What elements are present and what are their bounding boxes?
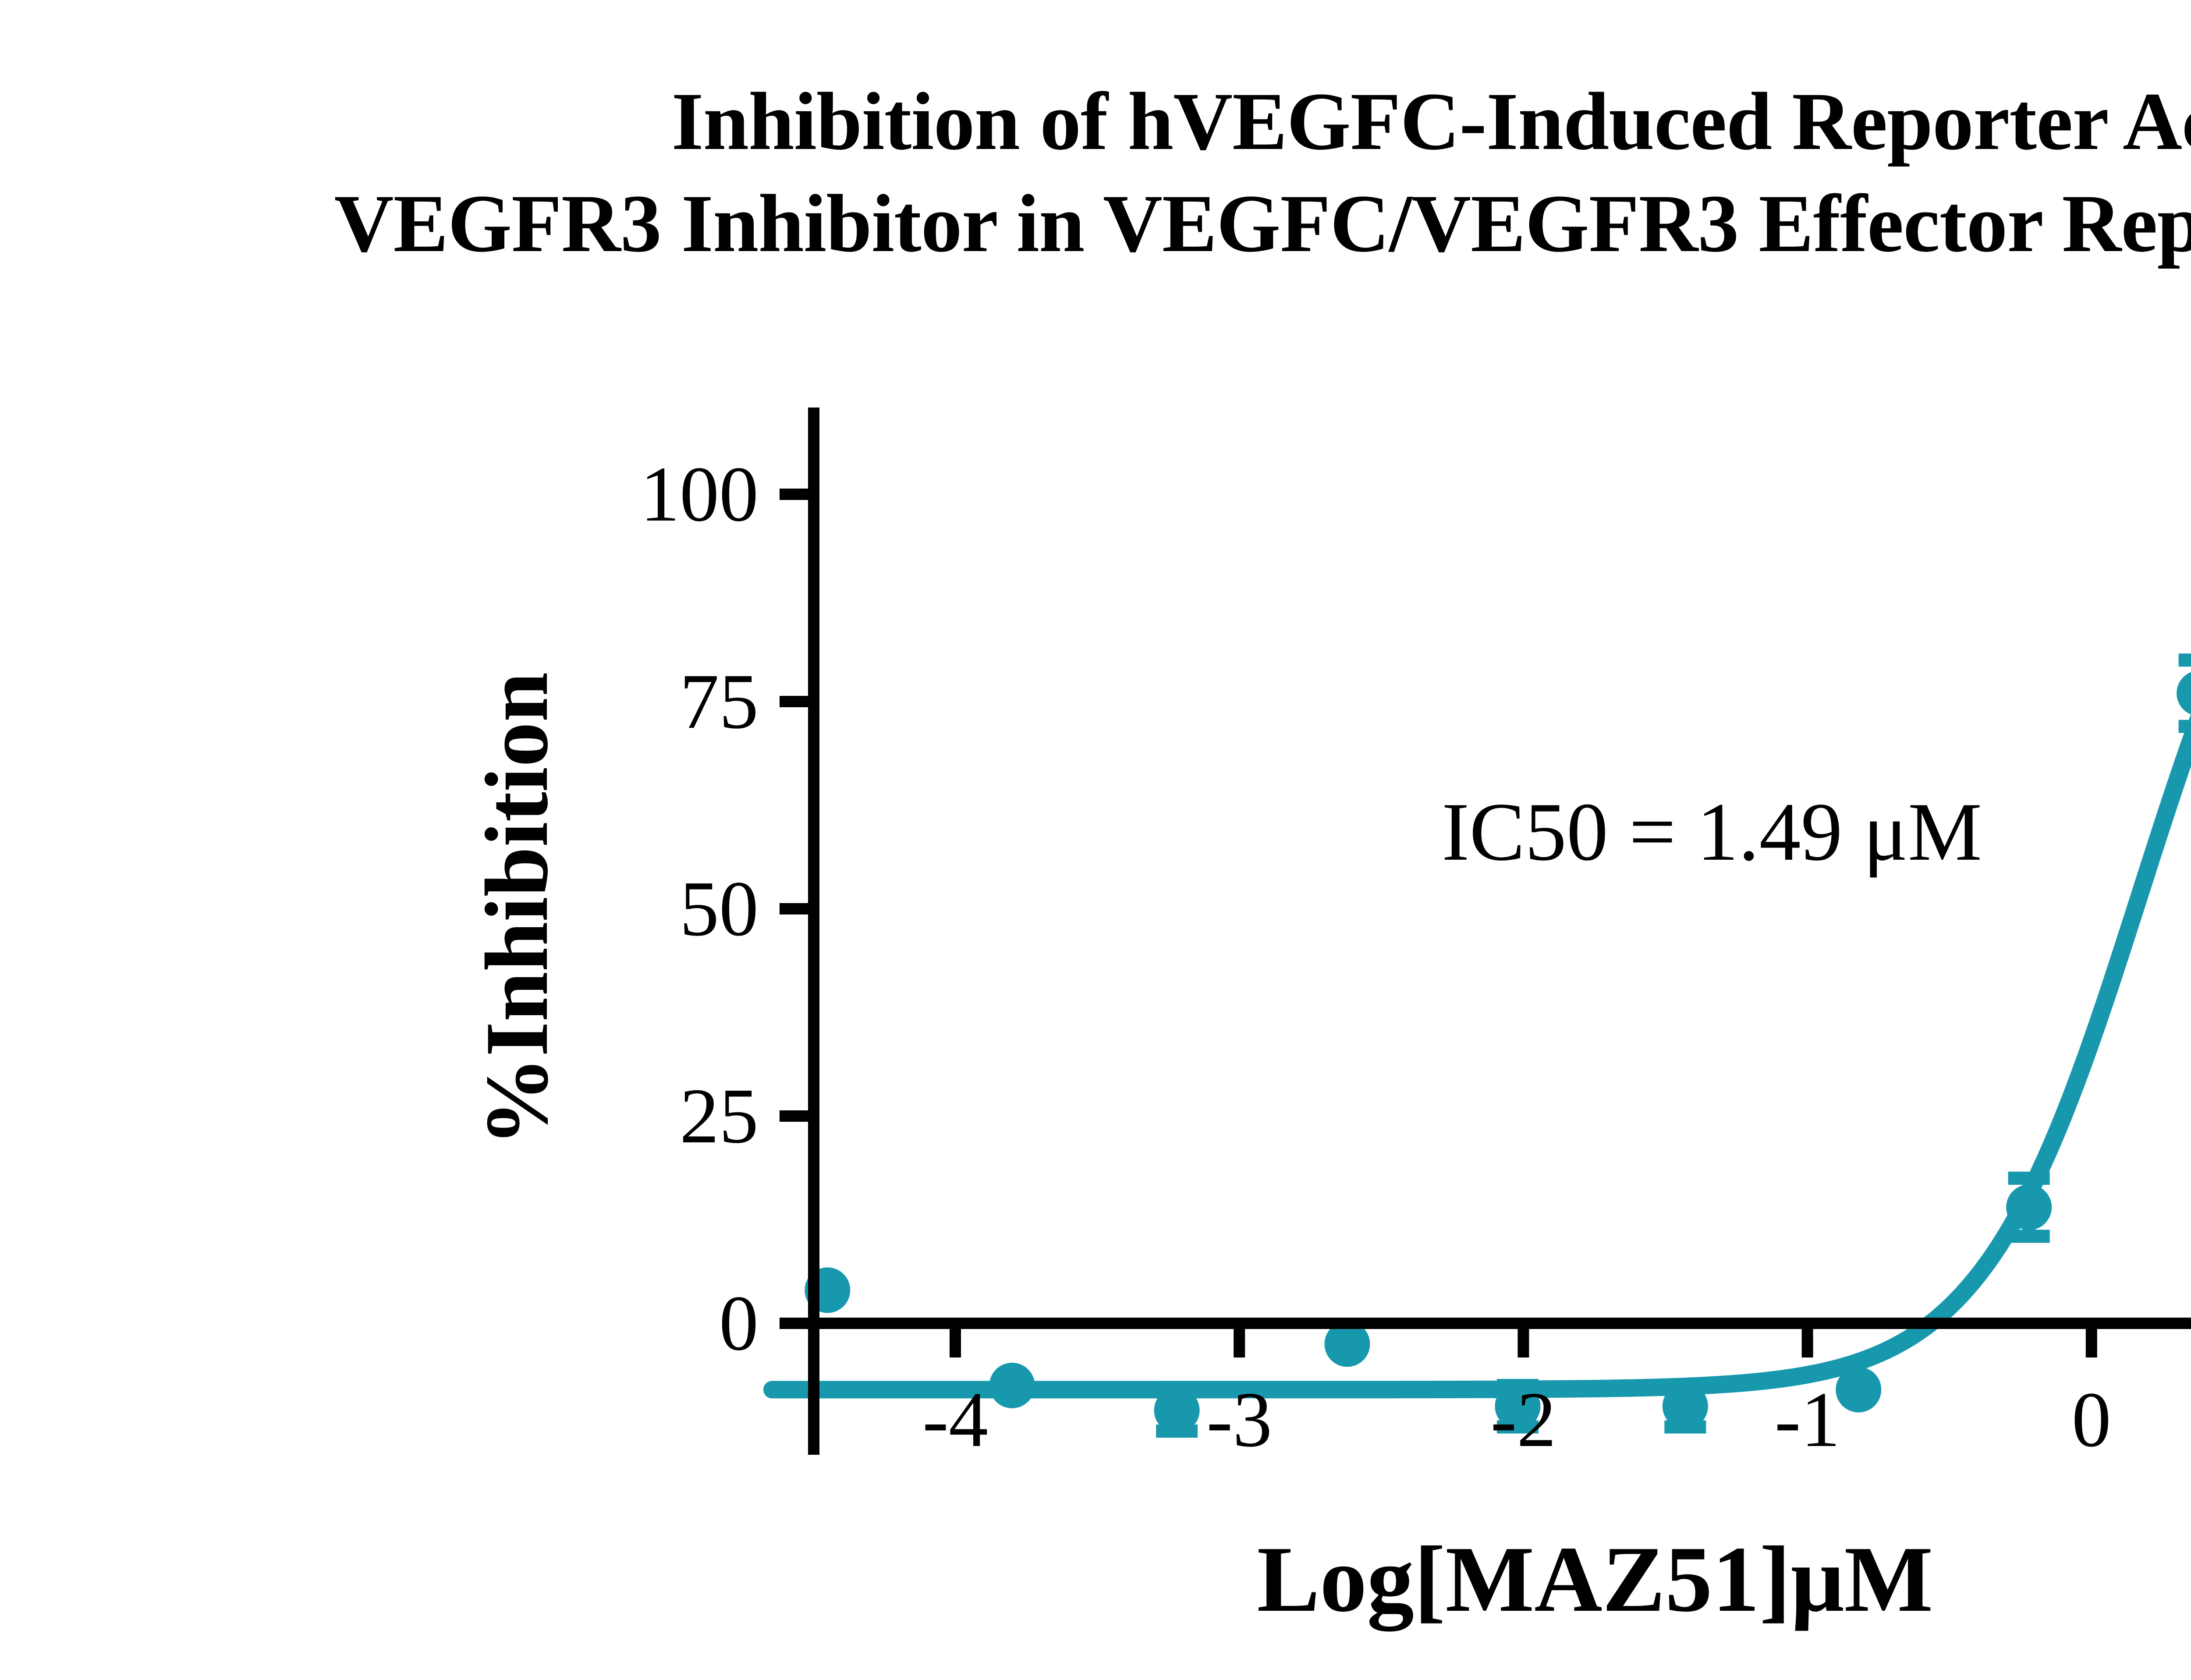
x-axis-tick-label: -1 bbox=[1775, 1380, 1840, 1459]
y-axis-title: %Inhibition bbox=[465, 672, 569, 1146]
ic50-annotation: IC50 = 1.49 μM bbox=[1442, 784, 1982, 880]
x-axis-tick-label: 0 bbox=[2072, 1380, 2111, 1459]
data-point-marker[interactable] bbox=[2006, 1184, 2052, 1230]
x-axis-tick-label: -2 bbox=[1490, 1380, 1556, 1459]
y-axis-tick-label: 75 bbox=[680, 662, 759, 741]
fit-curve bbox=[772, 444, 2191, 1390]
data-point-marker[interactable] bbox=[2177, 670, 2191, 716]
y-axis-tick-label: 25 bbox=[680, 1077, 759, 1155]
x-axis-title: Log[MAZ51]μM bbox=[1257, 1525, 1933, 1634]
x-axis-tick-label: -4 bbox=[922, 1380, 988, 1459]
data-point-marker[interactable] bbox=[1154, 1388, 1200, 1433]
data-point-marker[interactable] bbox=[1836, 1367, 1881, 1412]
x-axis-tick-label: -3 bbox=[1206, 1380, 1272, 1459]
chart-figure: Inhibition of hVEGFC-Induced Reporter Ac… bbox=[0, 0, 2191, 1680]
y-axis-tick-label: 100 bbox=[640, 455, 759, 534]
data-point-marker[interactable] bbox=[989, 1363, 1035, 1408]
y-axis-tick-label: 0 bbox=[719, 1284, 759, 1363]
data-point-marker[interactable] bbox=[1663, 1383, 1708, 1429]
y-axis-tick-label: 50 bbox=[680, 869, 759, 948]
